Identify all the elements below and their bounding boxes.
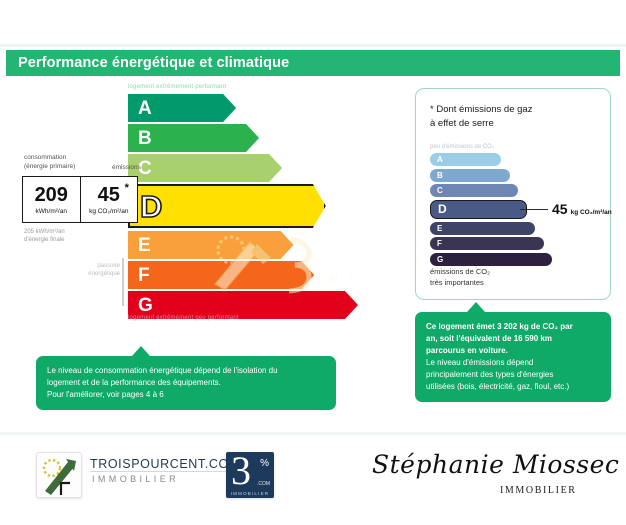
energy-letter-g: G — [128, 296, 153, 315]
logo-dotcom: .COM — [257, 481, 270, 487]
final-energy-note-line2: d'énergie finale — [24, 236, 65, 244]
energy-row-d: D — [128, 184, 358, 228]
energy-row-f: F — [128, 261, 358, 289]
callout-co2-info: Ce logement émet 3 202 kg de CO₂ par an,… — [415, 312, 611, 402]
logo-digit-three: 3 — [231, 451, 251, 491]
co2-caption-bottom: émissions de CO₂ très importantes — [430, 267, 490, 289]
callout-energy-advice: Le niveau de consommation énergétique dé… — [36, 356, 336, 410]
co2-letter-b: B — [430, 171, 443, 180]
consumption-label-line1: consommation — [24, 154, 144, 163]
emissions-value: 45* — [98, 185, 120, 205]
ladder-caption-bottom: logement extrêmement peu performant — [128, 315, 239, 321]
energy-ladder: logement extrêmement performant A B C — [0, 76, 360, 346]
callout-left-line3: Pour l'améliorer, voir pages 4 à 6 — [47, 389, 325, 401]
co2-caption-top: peu d'émissions de CO₂ — [430, 144, 494, 150]
co2-row-f: F — [430, 237, 600, 250]
agent-signature-subtitle: IMMOBILIER — [500, 485, 577, 496]
emissions-unit: kg CO₂/m²/an — [89, 208, 128, 215]
three-percent-logo-icon: 3 % .COM IMMOBILIER — [226, 452, 274, 498]
energy-row-c: C — [128, 154, 358, 182]
co2-title-line2: à effet de serre — [430, 117, 532, 131]
energy-row-e: E — [128, 231, 358, 259]
callout-left-text: Le niveau de consommation énergétique dé… — [36, 356, 336, 410]
co2-title-line1: * Dont émissions de gaz — [430, 103, 532, 117]
emissions-cell: 45* kg CO₂/m²/an — [80, 177, 138, 222]
co2-row-g: G — [430, 253, 600, 266]
passoire-line1: passoire — [62, 262, 120, 270]
arrow-sun-icon — [37, 453, 81, 497]
co2-bar-g: G — [430, 253, 552, 266]
co2-value: 45 — [552, 201, 568, 217]
co2-row-c: C — [430, 184, 600, 197]
brand-divider — [90, 471, 230, 472]
co2-letter-c: C — [430, 186, 443, 195]
co2-bar-e: E — [430, 222, 535, 235]
logo-immobilier: IMMOBILIER — [226, 491, 274, 496]
consumption-value: 209 — [35, 185, 68, 205]
callout-right-line5: principalement des types d'énergies — [426, 369, 600, 381]
top-divider — [0, 44, 626, 47]
energy-row-a: A — [128, 94, 358, 122]
callout-right-notch — [467, 302, 485, 312]
co2-value-callout: 45kg CO₂/m²/an — [552, 201, 612, 217]
co2-bars: A B C D — [430, 153, 600, 268]
brand-name: TROISPOURCENT.COM — [90, 457, 240, 471]
co2-caption-bottom-line2: très importantes — [430, 278, 490, 289]
passoire-label: passoire énergétique — [62, 262, 120, 279]
passoire-line2: énergétique — [62, 270, 120, 278]
energy-bars: A B C D — [128, 94, 358, 321]
ladder-caption-top: logement extrêmement performant — [128, 84, 226, 90]
dpe-page: Performance énergétique et climatique lo… — [0, 0, 626, 525]
co2-letter-g: G — [430, 255, 443, 264]
co2-letter-e: E — [430, 224, 442, 233]
co2-bar-d-selected: D — [430, 200, 527, 219]
callout-right-line2: an, soit l'équivalent de 16 590 km — [426, 333, 600, 345]
main-content: logement extrêmement performant A B C — [0, 76, 626, 416]
emissions-asterisk: * — [125, 183, 129, 194]
energy-bar-a: A — [128, 94, 236, 122]
co2-bar-b: B — [430, 169, 510, 182]
measurement-box: 209 kWh/m²/an 45* kg CO₂/m²/an — [22, 176, 138, 223]
co2-row-d: D 45kg CO₂/m²/an — [430, 200, 600, 219]
brand-tagline: IMMOBILIER — [92, 474, 179, 484]
callout-right-line3: parcourus en voiture. — [426, 345, 600, 357]
troispourcent-arrow-logo-icon — [36, 452, 82, 498]
passoire-bracket — [122, 258, 124, 306]
co2-panel: * Dont émissions de gaz à effet de serre… — [415, 88, 611, 300]
callout-right-line6: utilisées (bois, électricité, gaz, fioul… — [426, 381, 600, 393]
callout-left-notch — [132, 346, 150, 356]
footer: TROISPOURCENT.COM IMMOBILIER 3 % .COM IM… — [0, 440, 626, 525]
energy-bar-c: C — [128, 154, 282, 182]
final-energy-note-line1: 205 kWh/m²/an — [24, 228, 65, 236]
co2-leader-line — [520, 209, 548, 210]
logo-percent-sign: % — [260, 458, 269, 469]
co2-row-b: B — [430, 169, 600, 182]
footer-divider — [0, 432, 626, 435]
co2-letter-f: F — [430, 239, 442, 248]
emissions-number: 45 — [98, 184, 120, 206]
callout-left-line1: Le niveau de consommation énergétique dé… — [47, 365, 325, 377]
section-header: Performance énergétique et climatique — [6, 50, 620, 76]
callout-left-line2: logement et de la performance des équipe… — [47, 377, 325, 389]
consumption-cell: 209 kWh/m²/an — [23, 177, 80, 222]
co2-letter-a: A — [430, 155, 443, 164]
energy-bar-d-selected: D — [128, 184, 326, 228]
energy-bar-b: B — [128, 124, 259, 152]
energy-bar-e: E — [128, 231, 294, 259]
energy-letter-a: A — [128, 99, 152, 118]
final-energy-note: 205 kWh/m²/an d'énergie finale — [24, 228, 65, 245]
measurement-labels: consommation (énergie primaire) émission… — [24, 154, 144, 172]
co2-unit: kg CO₂/m²/an — [571, 209, 612, 216]
co2-bar-c: C — [430, 184, 518, 197]
co2-bar-f: F — [430, 237, 544, 250]
co2-row-e: E — [430, 222, 600, 235]
consumption-unit: kWh/m²/an — [36, 208, 67, 215]
page-title: Performance énergétique et climatique — [6, 55, 289, 71]
callout-right-line4: Le niveau d'émissions dépend — [426, 357, 600, 369]
energy-letter-f: F — [128, 266, 150, 285]
agent-signature: Stéphanie Miossec — [372, 450, 619, 479]
energy-row-b: B — [128, 124, 358, 152]
callout-right-text: Ce logement émet 3 202 kg de CO₂ par an,… — [415, 312, 611, 402]
co2-letter-d: D — [431, 202, 447, 216]
co2-caption-bottom-line1: émissions de CO₂ — [430, 267, 490, 278]
callout-right-line1: Ce logement émet 3 202 kg de CO₂ par — [426, 321, 600, 333]
co2-row-a: A — [430, 153, 600, 166]
co2-bar-a: A — [430, 153, 501, 166]
co2-panel-title: * Dont émissions de gaz à effet de serre — [430, 103, 532, 131]
energy-letter-e: E — [128, 236, 151, 255]
energy-letter-b: B — [128, 129, 152, 148]
energy-bar-f: F — [128, 261, 314, 289]
emissions-label: émissions — [112, 164, 141, 171]
